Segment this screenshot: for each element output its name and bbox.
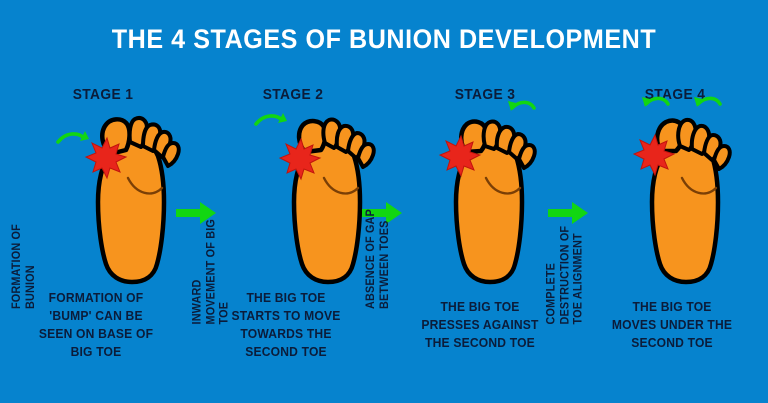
curved-arrow-icon [642,97,668,107]
foot-illustration-1 [72,102,192,287]
side-label-line: BETWEEN TOES [379,209,393,309]
bunion-stages-infographic: THE 4 STAGES OF BUNION DEVELOPMENT STAGE… [0,0,768,403]
caption-line: THE BIG TOE [391,298,570,316]
stage-caption-1: FORMATION OF 'BUMP' CAN BE SEEN ON BASE … [0,289,192,361]
caption-line: 'BUMP' CAN BE [7,307,186,325]
caption-line: PRESSES AGAINST [391,316,570,334]
caption-line: STARTS TO MOVE [197,307,376,325]
stage-caption-4: THE BIG TOE MOVES UNDER THE SECOND TOE [576,298,768,352]
foot-illustration-4 [626,102,746,287]
stage-caption-2: THE BIG TOE STARTS TO MOVE TOWARDS THE S… [190,289,382,361]
stage-heading-3: STAGE 3 [407,86,563,103]
stage-panel-2: STAGE 2 INWARD MOVEMENT OF BIG TOE [190,86,382,386]
caption-line: SEEN ON BASE OF [7,325,186,343]
caption-line: MOVES UNDER THE [583,316,762,334]
foot-illustration-3 [430,102,550,287]
curved-arrow-icon [694,97,720,107]
side-label-line: ABSENCE OF GAP [365,209,379,309]
stage-heading-1: STAGE 1 [25,86,181,103]
caption-line: THE SECOND TOE [391,334,570,352]
stage-heading-2: STAGE 2 [215,86,371,103]
caption-line: FORMATION OF [7,289,186,307]
caption-line: THE BIG TOE [197,289,376,307]
stage-side-label-3: ABSENCE OF GAP BETWEEN TOES [365,203,392,309]
stage-panel-1: STAGE 1 FORMATION OF BUNION [0,86,192,386]
page-title: THE 4 STAGES OF BUNION DEVELOPMENT [27,26,741,53]
caption-line: BIG TOE [7,343,186,361]
stage-panel-3: STAGE 3 ABSENCE OF GAP BETWEEN TOES [378,86,570,386]
caption-line: SECOND TOE [583,334,762,352]
caption-line: SECOND TOE [197,343,376,361]
caption-line: THE BIG TOE [583,298,762,316]
caption-line: TOWARDS THE [197,325,376,343]
curved-arrow-icon [508,101,534,111]
side-label-line: COMPLETE [546,226,560,325]
curved-arrow-icon [256,113,287,124]
curved-arrow-icon [58,131,89,142]
stage-heading-4: STAGE 4 [597,86,753,103]
stage-panel-4: STAGE 4 COMPLETE DESTRUCTION OF TOE ALIG… [568,86,760,386]
side-label-line: DESTRUCTION OF [559,226,573,325]
